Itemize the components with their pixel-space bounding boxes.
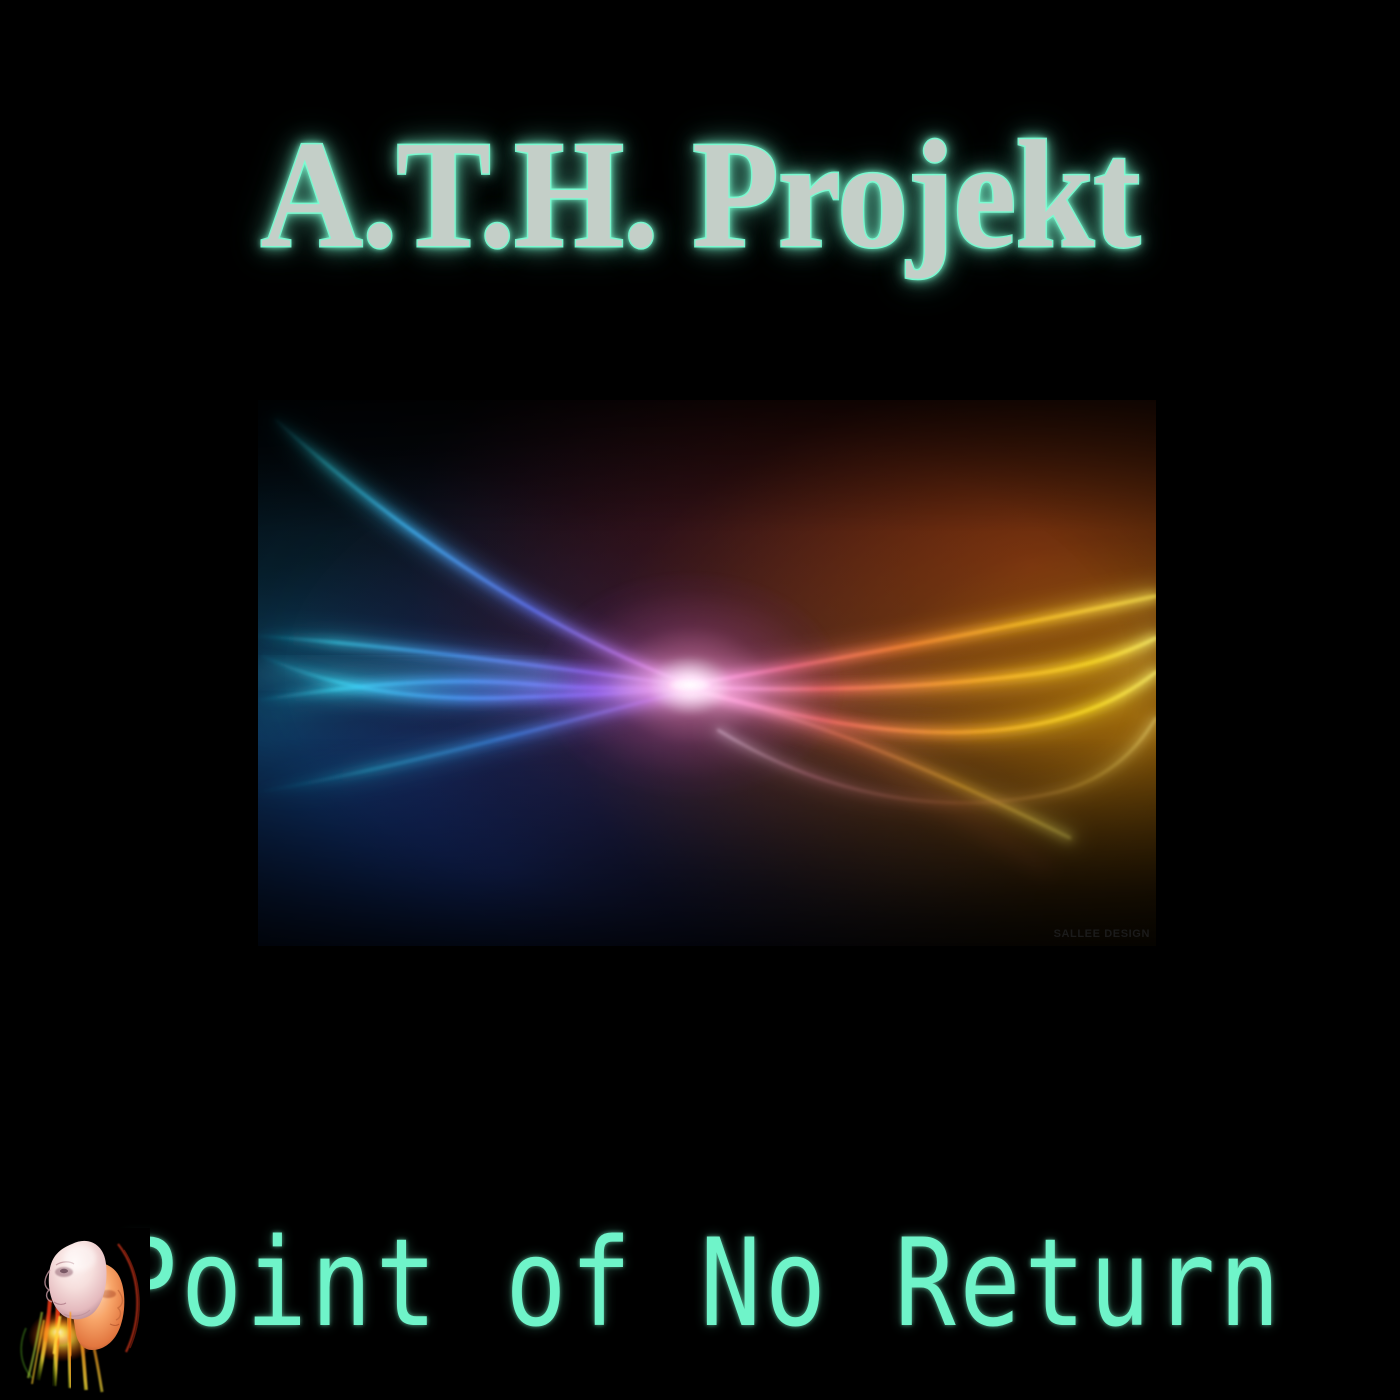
artwork-watermark: SALLEE DESIGN	[1054, 928, 1150, 940]
album-cover: A.T.H. Projekt	[0, 0, 1400, 1400]
two-faces-logo-graphic	[14, 1228, 150, 1400]
album-artwork: SALLEE DESIGN	[258, 400, 1156, 946]
artwork-vignette	[258, 400, 1156, 946]
two-faces-logo	[14, 1228, 150, 1400]
artist-name: A.T.H. Projekt	[56, 118, 1344, 272]
album-title: Point of No Return	[42, 1224, 1358, 1345]
